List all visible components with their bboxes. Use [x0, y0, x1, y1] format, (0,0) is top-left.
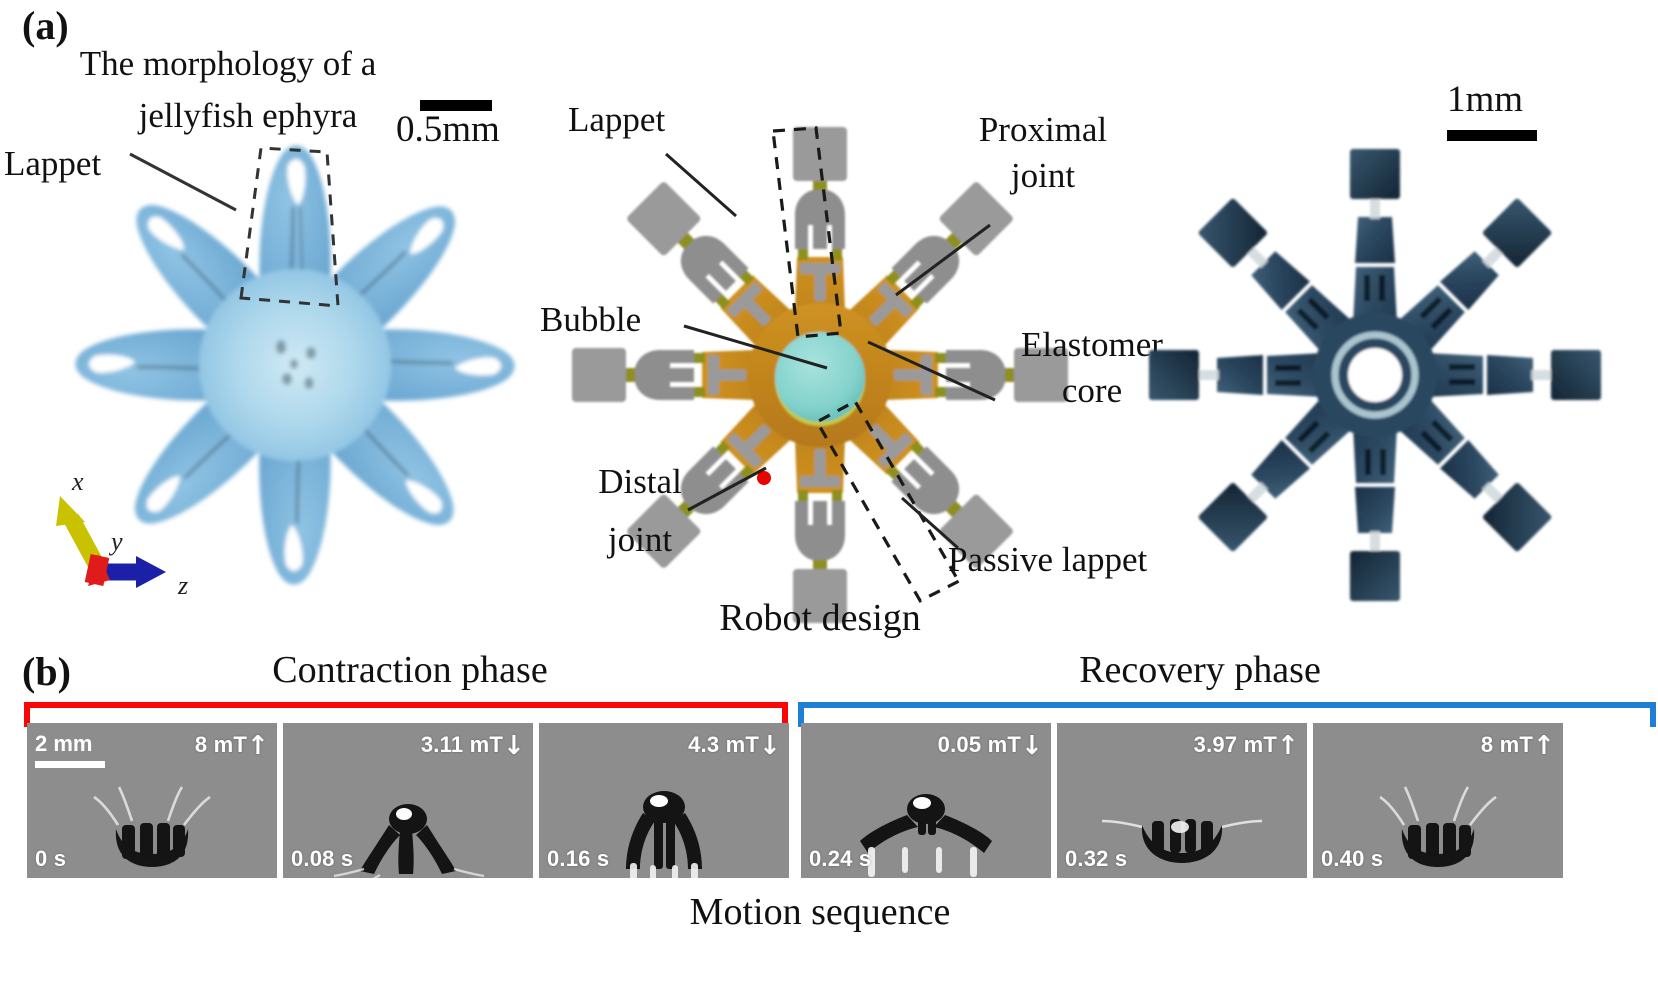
- frame-field-4: 0.05 mT↓: [938, 731, 1043, 761]
- axis-z-label: z: [177, 571, 188, 600]
- design-label-passive-lappet: Passive lappet: [948, 540, 1147, 579]
- frame-field-6: 8 mT↑: [1481, 731, 1555, 761]
- motion-frame-2: 3.11 mT↓ 0.08 s: [283, 723, 533, 878]
- frame-scale-bar: [35, 761, 105, 768]
- motion-frame-6: 8 mT↑ 0.40 s: [1313, 723, 1563, 878]
- axis-triad: x y z: [38, 468, 228, 598]
- frame-field-1: 8 mT↑: [195, 731, 269, 761]
- axis-y-label: y: [108, 527, 123, 556]
- motion-frame-3: 4.3 mT↓ 0.16 s: [539, 723, 789, 878]
- axis-x-arrow: [56, 496, 96, 564]
- frame-time-1: 0 s: [35, 846, 66, 872]
- panel-a-letter: (a): [22, 2, 69, 49]
- axis-x-label: x: [71, 467, 84, 496]
- frame-field-value-5: 3.97 mT: [1194, 732, 1277, 757]
- frame-field-2: 3.11 mT↓: [421, 731, 525, 761]
- frame-scale-label: 2 mm: [35, 731, 92, 757]
- phase-title-recovery: Recovery phase: [880, 648, 1520, 692]
- frame-field-value-1: 8 mT: [195, 732, 247, 757]
- design-label-distal-joint-line2: joint: [565, 520, 715, 559]
- phase-title-contraction: Contraction phase: [100, 648, 720, 692]
- axis-y-arrow: [88, 554, 110, 586]
- ephyra-lappet-leader: [130, 150, 260, 220]
- frame-time-5: 0.32 s: [1065, 846, 1127, 872]
- fabricated-robot-photo: [1140, 140, 1610, 610]
- frame-field-arrow-up-icon: ↑: [1277, 731, 1299, 761]
- frame-field-value-6: 8 mT: [1481, 732, 1533, 757]
- scalebar-1mm-label: 1mm: [1447, 78, 1523, 121]
- frame-time-3: 0.16 s: [547, 846, 609, 872]
- frame-time-2: 0.08 s: [291, 846, 353, 872]
- ephyra-title-line1: The morphology of a: [18, 44, 438, 83]
- frame-field-arrow-down-icon: ↓: [503, 731, 525, 761]
- frame-field-5: 3.97 mT↑: [1194, 731, 1299, 761]
- design-label-distal-joint-line1: Distal: [565, 462, 715, 501]
- design-label-lappet: Lappet: [568, 100, 665, 139]
- design-label-proximal-joint-line2: joint: [943, 156, 1143, 195]
- motion-sequence-caption: Motion sequence: [540, 890, 1100, 934]
- frame-field-value-2: 3.11 mT: [421, 732, 503, 757]
- frame-field-arrow-down-icon: ↓: [1021, 731, 1043, 761]
- motion-frame-1: 2 mm 8 mT↑ 0 s: [27, 723, 277, 878]
- motion-frame-5: 3.97 mT↑ 0.32 s: [1057, 723, 1307, 878]
- frame-field-value-4: 0.05 mT: [938, 732, 1021, 757]
- frame-field-arrow-down-icon: ↓: [759, 731, 781, 761]
- design-label-bubble: Bubble: [540, 300, 641, 339]
- design-label-proximal-joint-line1: Proximal: [943, 110, 1143, 149]
- frame-field-arrow-up-icon: ↑: [247, 731, 269, 761]
- frame-time-6: 0.40 s: [1321, 846, 1383, 872]
- frame-field-3: 4.3 mT↓: [688, 731, 781, 761]
- panel-b-letter: (b): [22, 648, 71, 695]
- robot-design-caption: Robot design: [610, 596, 1030, 640]
- motion-frame-4: 0.05 mT↓ 0.24 s: [801, 723, 1051, 878]
- frame-field-value-3: 4.3 mT: [688, 732, 759, 757]
- frame-field-arrow-up-icon: ↑: [1533, 731, 1555, 761]
- frame-time-4: 0.24 s: [809, 846, 871, 872]
